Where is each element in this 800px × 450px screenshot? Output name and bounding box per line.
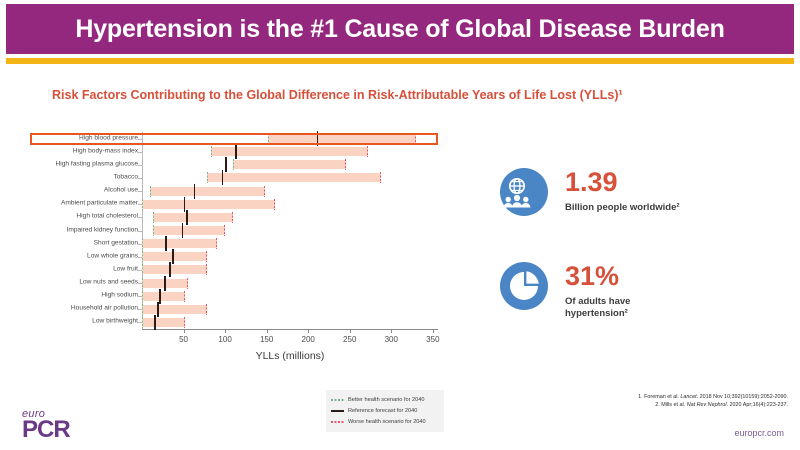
stat-card-prevalence: 31% Of adults have hypertension² [500,262,630,320]
legend-item-worse: Worse health scenario for 2040 [331,416,439,427]
x-axis-title: YLLs (millions) [142,350,438,362]
dashed-red-line-icon [331,418,344,426]
page-title: Hypertension is the #1 Cause of Global D… [75,15,724,44]
y-axis-label: High body-mass index [30,148,143,155]
footnote-2: 2. Mills et al. Nat Rev Nephrol. 2020 Ap… [638,401,788,409]
y-axis-label: Low fruit [30,267,143,274]
reference-forecast-marker [317,131,319,146]
worse-scenario-marker [216,238,217,249]
globe-people-icon [500,168,548,216]
europcr-logo: euro PCR [22,408,98,440]
reference-forecast-marker [184,197,186,212]
chart-bar-row [142,252,437,261]
footnote-1: 1. Foreman et al. Lancet. 2018 Nov 10;39… [638,393,788,401]
reference-forecast-marker [235,144,237,159]
website-url: europcr.com [734,428,784,438]
footnotes: 1. Foreman et al. Lancet. 2018 Nov 10;39… [638,393,788,410]
worse-scenario-marker [206,264,207,275]
better-scenario-marker [268,133,269,144]
stat-value-prevalence: 31% [565,263,630,290]
stat-caption-prevalence: Of adults have hypertension² [565,296,630,320]
y-axis-label: High fasting plasma glucose [30,162,143,169]
worse-scenario-marker [232,212,233,223]
chart-bar-row [142,134,437,143]
uncertainty-bar [142,305,207,314]
uncertainty-bar [142,200,275,209]
better-scenario-marker [153,225,154,236]
uncertainty-bar [233,160,345,169]
uncertainty-bar [207,173,382,182]
chart-bar-row [142,279,437,288]
y-axis-label: Ambient particulate matter [30,201,143,208]
worse-scenario-marker [367,146,368,157]
worse-scenario-marker [415,133,416,144]
x-axis-tick [184,329,185,333]
x-axis-tick [267,329,268,333]
reference-forecast-marker [225,157,227,172]
uncertainty-bar [142,265,207,274]
footnote-2-journal: Nat Rev Nephrol [687,402,727,408]
better-scenario-marker [233,159,234,170]
reference-forecast-marker [222,170,224,185]
stat-caption-line1: Of adults have [565,296,630,307]
reference-forecast-marker [164,276,166,291]
reference-forecast-marker [154,315,156,330]
y-axis-label: High blood pressure [30,135,143,142]
worse-scenario-marker [274,199,275,210]
x-axis-tick-label: 300 [385,335,398,344]
uncertainty-bar [150,187,265,196]
chart-bar-row [142,226,437,235]
worse-scenario-marker [345,159,346,170]
dashed-green-line-icon [331,396,344,404]
y-axis-label: Household air pollution [30,306,143,313]
chart-bar-row [142,239,437,248]
worse-scenario-marker [206,251,207,262]
legend-item-better: Better health scenario for 2040 [331,394,439,405]
reference-forecast-marker [159,289,161,304]
chart-bar-row [142,187,437,196]
uncertainty-bar [142,239,217,248]
y-axis-label: Tobacco [30,175,143,182]
reference-forecast-marker [165,236,167,251]
worse-scenario-marker [206,304,207,315]
y-axis-label: Low nuts and seeds [30,280,143,287]
footnote-1-suffix: . 2018 Nov 10;392(10159):2052-2090. [697,394,788,400]
better-scenario-marker [153,212,154,223]
worse-scenario-marker [264,186,265,197]
chart-plot-area [142,132,437,329]
reference-forecast-marker [169,262,171,277]
reference-forecast-marker [186,210,188,225]
y-axis-label: High sodium [30,293,143,300]
worse-scenario-marker [380,172,381,183]
uncertainty-bar [142,292,185,301]
x-axis-tick [225,329,226,333]
y-axis-label: Low whole grains [30,253,143,260]
worse-scenario-marker [184,291,185,302]
legend-label-reference: Reference forecast for 2040 [348,408,417,414]
pie-chart-icon [500,262,548,310]
x-axis-tick [308,329,309,333]
chart-bar-row [142,200,437,209]
chart-legend: Better health scenario for 2040 Referenc… [326,390,444,432]
reference-forecast-marker [157,302,159,317]
chart-bar-row [142,305,437,314]
stat-value-population: 1.39 [565,169,680,196]
worse-scenario-marker [224,225,225,236]
chart-bar-row [142,160,437,169]
x-axis-tick-label: 50 [179,335,188,344]
uncertainty-bar [153,213,234,222]
uncertainty-bar [142,252,207,261]
header-gold-rule [6,58,794,64]
chart-subtitle: Risk Factors Contributing to the Global … [52,88,752,102]
x-axis-tick-label: 100 [218,335,231,344]
uncertainty-bar [142,318,185,327]
solid-black-line-icon [331,407,344,415]
chart-bar-row [142,292,437,301]
reference-forecast-marker [194,184,196,199]
worse-scenario-marker [187,278,188,289]
chart-bar-row [142,173,437,182]
better-scenario-marker [150,186,151,197]
stat-caption-population: Billion people worldwide² [565,202,680,214]
chart-bar-row [142,213,437,222]
footnote-1-prefix: 1. Foreman et al. [638,394,680,400]
better-scenario-marker [211,146,212,157]
x-axis-tick [433,329,434,333]
y-axis-label: Low birthweight [30,319,143,326]
x-axis-tick-label: 250 [343,335,356,344]
x-axis-tick-label: 350 [426,335,439,344]
legend-item-reference: Reference forecast for 2040 [331,405,439,416]
risk-factor-chart: 50100150200250300350 YLLs (millions) Bet… [30,132,450,382]
x-axis-tick [350,329,351,333]
y-axis-label: High total cholesterol [30,214,143,221]
chart-bar-row [142,265,437,274]
x-axis-line [142,329,438,330]
reference-forecast-marker [182,223,184,238]
stat-caption-line2: hypertension² [565,308,628,319]
footnote-1-journal: Lancet [680,394,696,400]
y-axis-label: Impaired kidney function [30,227,143,234]
x-axis-tick-label: 150 [260,335,273,344]
better-scenario-marker [207,172,208,183]
y-axis-label: Short gestation [30,240,143,247]
uncertainty-bar [268,134,416,143]
reference-forecast-marker [172,249,174,264]
chart-bar-row [142,147,437,156]
header-banner: Hypertension is the #1 Cause of Global D… [6,4,794,54]
x-axis-tick-label: 200 [302,335,315,344]
legend-label-worse: Worse health scenario for 2040 [348,419,426,425]
worse-scenario-marker [184,317,185,328]
chart-bar-row [142,318,437,327]
uncertainty-bar [153,226,225,235]
legend-label-better: Better health scenario for 2040 [348,397,425,403]
y-axis-label: Alcohol use [30,188,143,195]
logo-pcr-text: PCR [22,420,98,440]
footnote-2-suffix: . 2020 Apr;16(4):223-237. [727,402,788,408]
stat-card-population: 1.39 Billion people worldwide² [500,168,680,216]
footnote-2-prefix: 2. Mills et al. [655,402,686,408]
x-axis-tick [391,329,392,333]
